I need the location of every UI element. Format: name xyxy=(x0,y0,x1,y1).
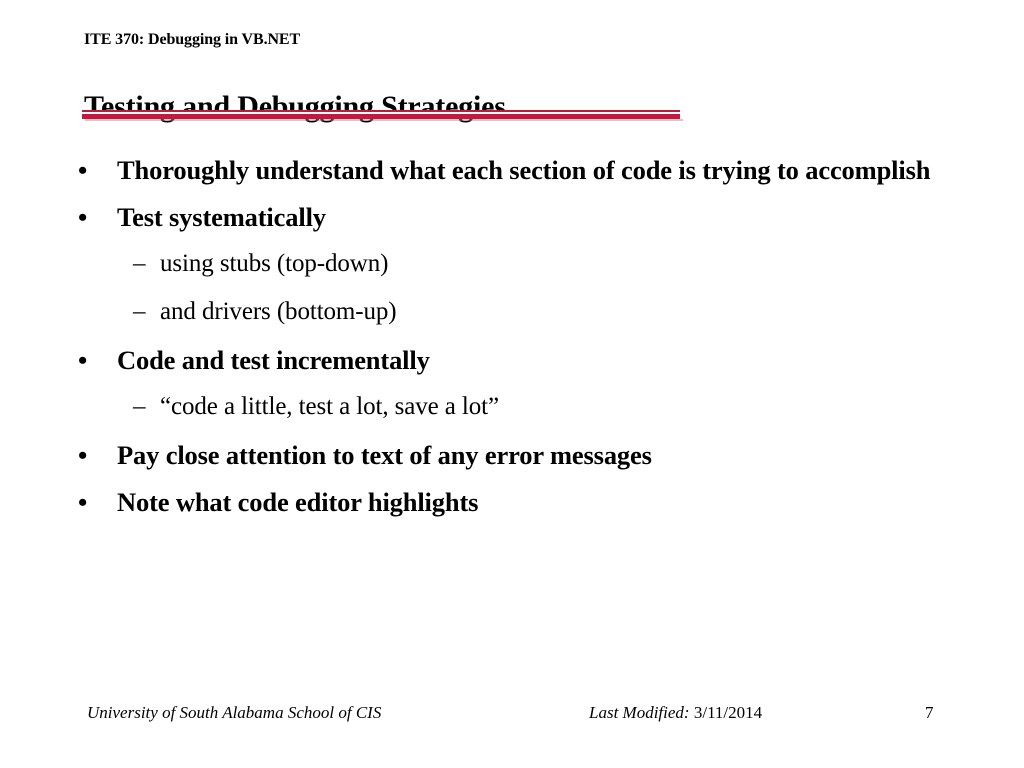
footer-organization: University of South Alabama School of CI… xyxy=(87,703,381,723)
divider-shadow xyxy=(85,119,683,121)
list-item: • Note what code editor highlights xyxy=(0,482,1024,523)
list-item-label: Thoroughly understand what each section … xyxy=(117,150,934,191)
sub-list-item: – “code a little, test a lot, save a lot… xyxy=(0,387,1024,427)
footer-last-modified: Last Modified: 3/11/2014 xyxy=(589,703,762,723)
list-item: • Test systematically xyxy=(0,197,1024,238)
sub-list-item-label: and drivers (bottom-up) xyxy=(160,292,934,332)
list-item-label: Pay close attention to text of any error… xyxy=(117,435,934,476)
slide-footer: University of South Alabama School of CI… xyxy=(0,703,1024,733)
list-item-label: Code and test incrementally xyxy=(117,340,934,381)
slide-kicker: ITE 370: Debugging in VB.NET xyxy=(84,31,300,49)
sub-list-item: – using stubs (top-down) xyxy=(0,244,1024,284)
footer-modified-date: 3/11/2014 xyxy=(694,703,762,722)
list-item-label: Test systematically xyxy=(117,197,934,238)
list-item: • Pay close attention to text of any err… xyxy=(0,435,1024,476)
dash-marker-icon: – xyxy=(133,244,145,284)
bullet-marker-icon: • xyxy=(78,150,87,191)
list-item: • Thoroughly understand what each sectio… xyxy=(0,150,1024,191)
bullet-marker-icon: • xyxy=(78,197,87,238)
bullet-list: • Thoroughly understand what each sectio… xyxy=(0,150,1024,529)
dash-marker-icon: – xyxy=(133,292,145,332)
sub-list-item-label: “code a little, test a lot, save a lot” xyxy=(160,387,934,427)
sub-list-item-label: using stubs (top-down) xyxy=(160,244,934,284)
bullet-marker-icon: • xyxy=(78,435,87,476)
page-number: 7 xyxy=(925,703,934,723)
sub-list-item: – and drivers (bottom-up) xyxy=(0,292,1024,332)
title-divider xyxy=(82,110,680,120)
dash-marker-icon: – xyxy=(133,387,145,427)
slide: ITE 370: Debugging in VB.NET Testing and… xyxy=(0,0,1024,768)
list-item: • Code and test incrementally xyxy=(0,340,1024,381)
bullet-marker-icon: • xyxy=(78,482,87,523)
bullet-marker-icon: • xyxy=(78,340,87,381)
list-item-label: Note what code editor highlights xyxy=(117,482,934,523)
footer-modified-label: Last Modified: xyxy=(589,703,690,722)
